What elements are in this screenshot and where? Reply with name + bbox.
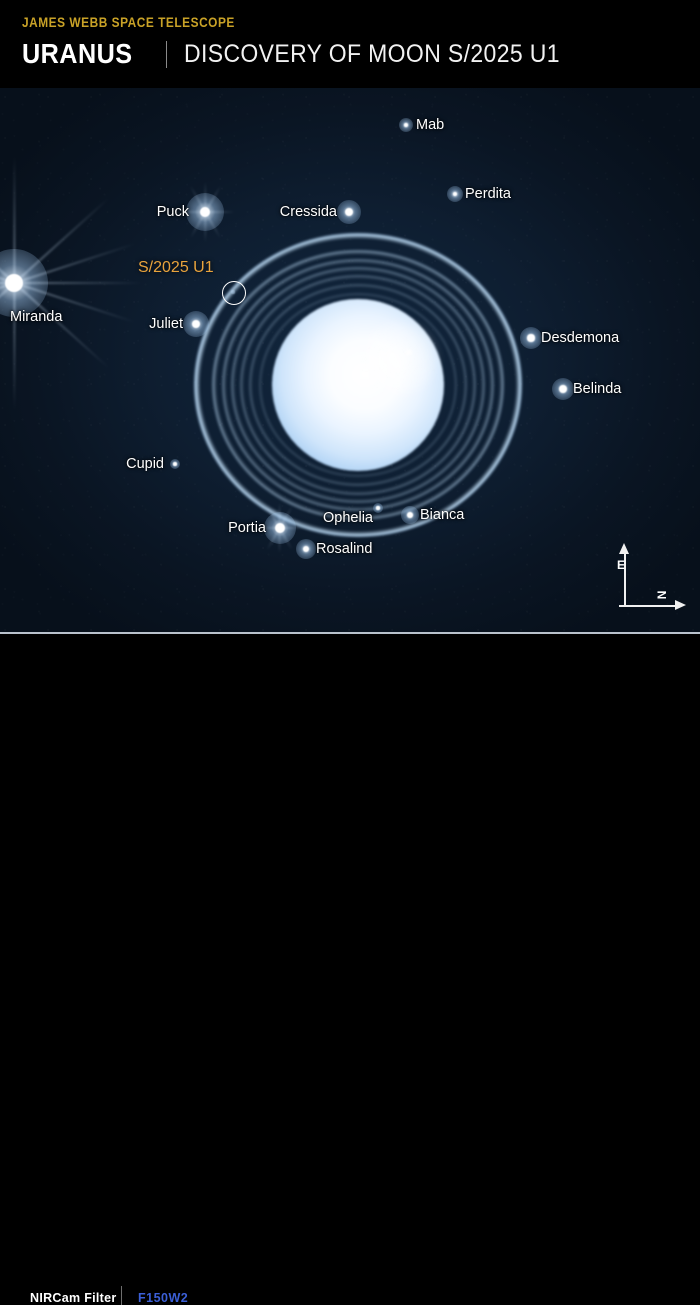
moon-label-ophelia: Ophelia — [323, 510, 373, 526]
compass-rose: E N — [600, 544, 695, 619]
compass-label-east: E — [617, 558, 625, 572]
filter-label: NIRCam Filter — [30, 1291, 117, 1305]
moon-label-bianca: Bianca — [420, 507, 464, 523]
telescope-image-panel: MabPerditaCressidaPuckJulietMirandaDesde… — [0, 88, 700, 634]
moon-label-mab: Mab — [416, 117, 444, 133]
filter-divider — [121, 1286, 122, 1305]
storm-spot — [404, 349, 413, 356]
filter-value: F150W2 — [138, 1291, 188, 1305]
polar-cap — [360, 323, 436, 395]
moon-ophelia — [376, 506, 379, 509]
moon-miranda — [5, 274, 23, 292]
moon-belinda — [559, 385, 567, 393]
title-row: URANUS DISCOVERY OF MOON S/2025 U1 — [22, 38, 592, 70]
compass-east-line — [625, 605, 677, 607]
moon-cressida — [345, 208, 353, 216]
compass-north-arrow-icon — [619, 543, 629, 554]
title-divider — [166, 41, 167, 68]
compass-east-arrow-icon — [675, 600, 686, 610]
new-moon-circle-marker — [222, 281, 246, 305]
moon-label-portia: Portia — [228, 520, 266, 536]
new-moon-label: S/2025 U1 — [138, 259, 214, 277]
compass-label-north: N — [654, 591, 668, 600]
moon-label-cressida: Cressida — [280, 204, 337, 220]
moon-label-rosalind: Rosalind — [316, 541, 372, 557]
moon-label-cupid: Cupid — [126, 456, 164, 472]
moon-label-puck: Puck — [157, 204, 189, 220]
jwst-uranus-image-card: JAMES WEBB SPACE TELESCOPE URANUS DISCOV… — [0, 0, 700, 700]
moon-label-juliet: Juliet — [149, 316, 183, 332]
moon-label-desdemona: Desdemona — [541, 330, 619, 346]
moon-cupid — [173, 462, 177, 466]
compass-origin-tick — [619, 605, 631, 607]
footer-bar: NIRCam Filter F150W2 — [0, 634, 700, 700]
moon-label-belinda: Belinda — [573, 381, 621, 397]
moon-desdemona — [527, 334, 534, 341]
page-title: URANUS — [22, 38, 133, 70]
page-subtitle: DISCOVERY OF MOON S/2025 U1 — [184, 40, 560, 69]
moon-label-perdita: Perdita — [465, 186, 511, 202]
moon-portia — [275, 523, 285, 533]
moon-label-miranda: Miranda — [10, 309, 62, 325]
mission-name: JAMES WEBB SPACE TELESCOPE — [22, 15, 235, 30]
header-bar: JAMES WEBB SPACE TELESCOPE URANUS DISCOV… — [0, 0, 700, 88]
